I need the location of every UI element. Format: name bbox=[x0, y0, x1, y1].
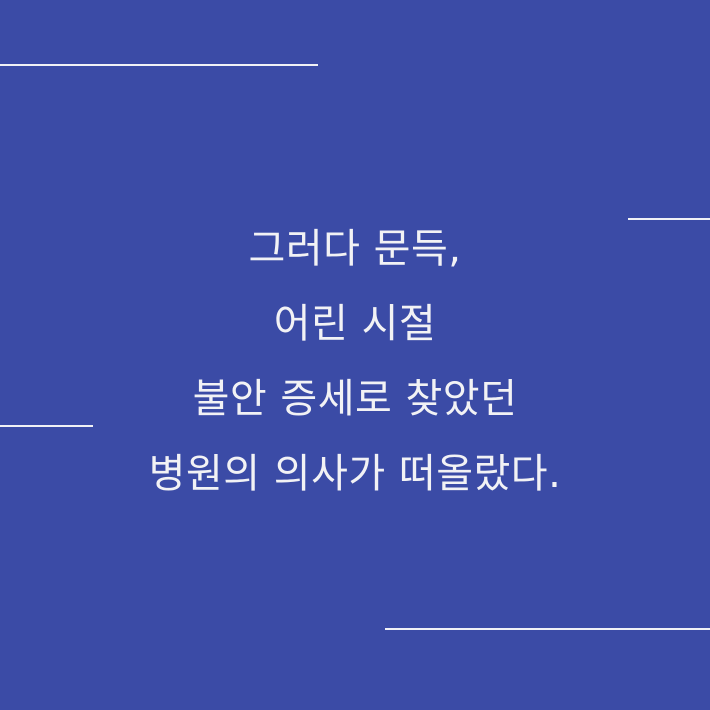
quote-line-3: 불안 증세로 찾았던 bbox=[24, 362, 686, 437]
quote-line-2: 어린 시절 bbox=[24, 287, 686, 362]
bottom-right-rule bbox=[385, 628, 710, 630]
quote-line-1: 그러다 문득, bbox=[24, 212, 686, 287]
quote-text-block: 그러다 문득, 어린 시절 불안 증세로 찾았던 병원의 의사가 떠올랐다. bbox=[0, 212, 710, 512]
quote-line-4: 병원의 의사가 떠올랐다. bbox=[24, 437, 686, 512]
quote-card: 그러다 문득, 어린 시절 불안 증세로 찾았던 병원의 의사가 떠올랐다. bbox=[0, 0, 710, 710]
top-left-rule bbox=[0, 64, 318, 66]
